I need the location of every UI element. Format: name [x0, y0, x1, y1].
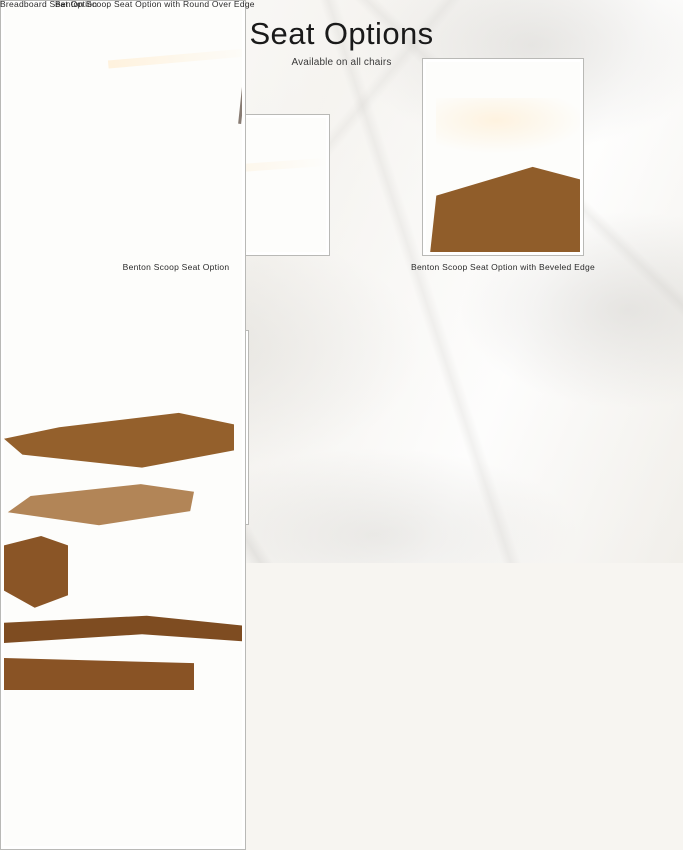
- page-background: Seat Options Available on all chairs: [0, 0, 683, 563]
- page-header: Seat Options Available on all chairs: [0, 18, 683, 68]
- photo-frame-beveled-edge-seat[interactable]: [422, 58, 584, 256]
- photo-caption-4: Breadboard Seat Option: [0, 0, 97, 9]
- photo-caption-1: Benton Scoop Seat Option: [22, 263, 330, 272]
- photo-caption-2: Benton Scoop Seat Option with Beveled Ed…: [402, 263, 604, 272]
- page-title: Seat Options: [0, 18, 683, 49]
- photo-image-breadboard-seat: [4, 4, 242, 846]
- photo-image-beveled-edge-seat: [426, 62, 580, 252]
- photo-frame-breadboard-seat[interactable]: [0, 0, 246, 850]
- page-subtitle: Available on all chairs: [0, 58, 683, 68]
